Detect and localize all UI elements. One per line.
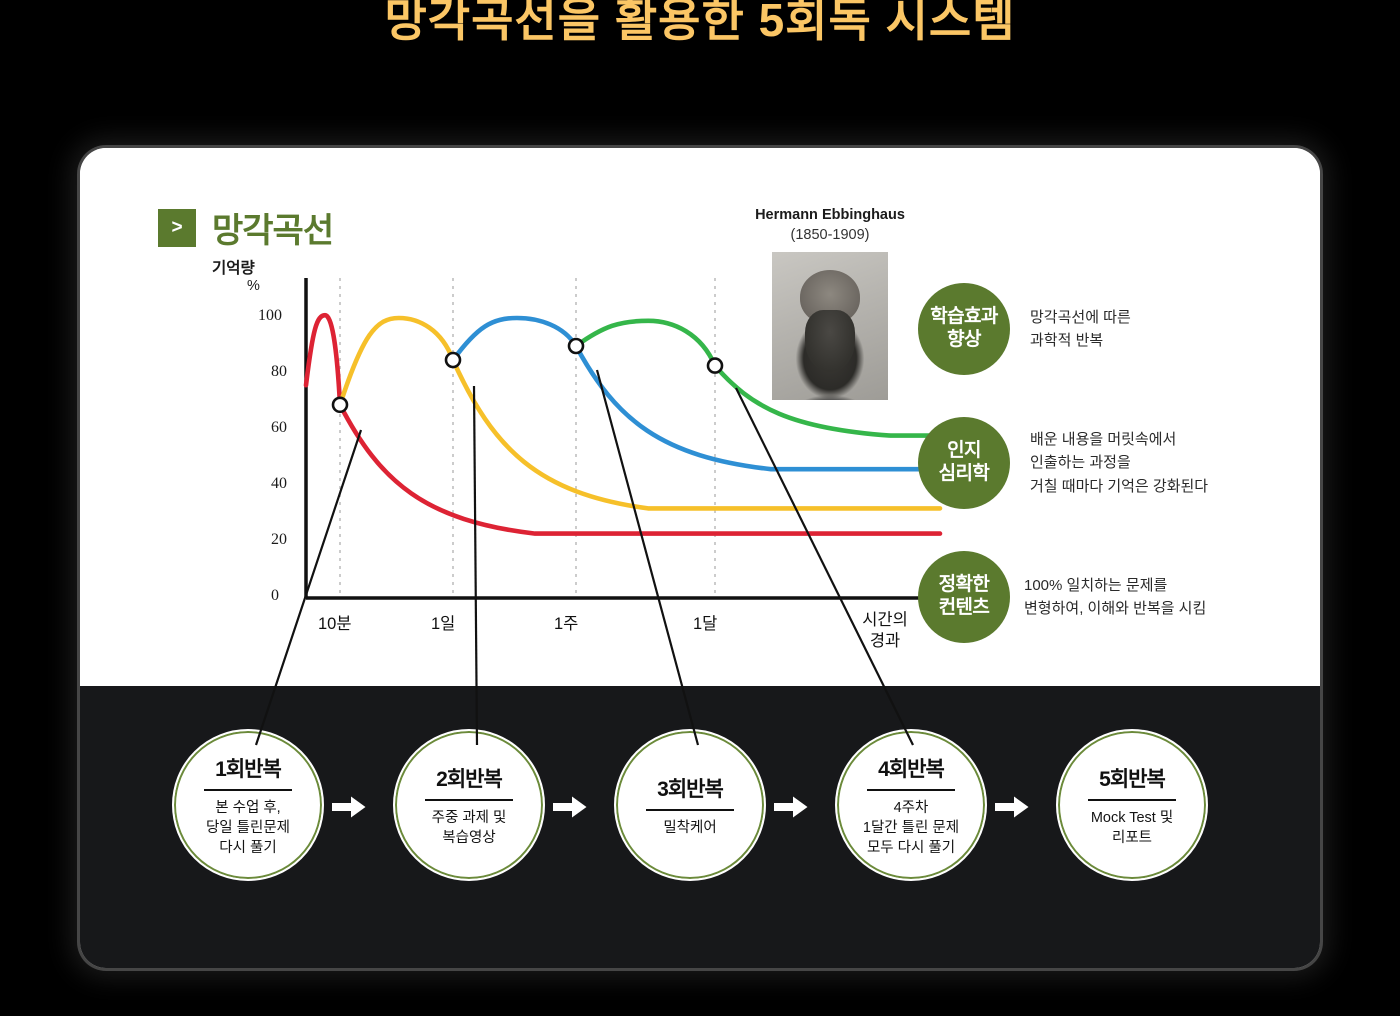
page-title: 망각곡선 xyxy=(212,203,333,252)
step-title-2: 2회반복 xyxy=(436,763,502,793)
feature-badge-line-2: 컨텐츠 xyxy=(939,597,990,620)
feature-description-line-1: 100% 일치하는 문제를 xyxy=(1024,574,1206,597)
step-title-3: 3회반복 xyxy=(657,773,723,803)
y-tick-100: 100 xyxy=(258,307,282,325)
review-marker-3 xyxy=(569,339,583,353)
feature-description-1: 망각곡선에 따른과학적 반복 xyxy=(1030,306,1131,353)
x-axis-title: 시간의경과 xyxy=(840,610,930,651)
repetition-steps: 1회반복본 수업 후,당일 틀린문제다시 풀기2회반복주중 과제 및복습영상3회… xyxy=(80,686,1320,968)
step-divider-3 xyxy=(646,809,734,811)
step-description-line-1: Mock Test 및 xyxy=(1091,808,1173,828)
step-divider-2 xyxy=(425,799,513,801)
step-description-5: Mock Test 및리포트 xyxy=(1091,808,1173,848)
step-circle-4[interactable]: 4회반복4주차1달간 틀린 문제모두 다시 풀기 xyxy=(835,729,987,881)
step-circle-5[interactable]: 5회반복Mock Test 및리포트 xyxy=(1056,729,1208,881)
arrow-right-icon xyxy=(553,796,587,818)
feature-badge-3: 정확한컨텐츠 xyxy=(918,551,1010,643)
feature-description-3: 100% 일치하는 문제를변형하여, 이해와 반복을 시킴 xyxy=(1024,574,1206,621)
step-description-2: 주중 과제 및복습영상 xyxy=(432,808,507,848)
curve-series-1 xyxy=(306,315,940,533)
step-description-4: 4주차1달간 틀린 문제모두 다시 풀기 xyxy=(863,798,959,858)
x-axis-title-line-1: 시간의 xyxy=(840,610,930,631)
step-circle-1[interactable]: 1회반복본 수업 후,당일 틀린문제다시 풀기 xyxy=(172,729,324,881)
step-description-3: 밀착케어 xyxy=(663,818,716,838)
feature-description-line-3: 거칠 때마다 기억은 강화된다 xyxy=(1030,475,1208,498)
step-title-1: 1회반복 xyxy=(215,753,281,783)
step-description-line-1: 주중 과제 및 xyxy=(432,808,507,828)
feature-badge-1: 학습효과향상 xyxy=(918,283,1010,375)
review-marker-2 xyxy=(446,353,460,367)
section-heading: > 망각곡선 xyxy=(158,203,333,252)
step-description-line-2: 리포트 xyxy=(1091,828,1173,848)
step-title-5: 5회반복 xyxy=(1099,763,1165,793)
y-axis-unit: % xyxy=(247,278,260,294)
feature-list: 학습효과향상망각곡선에 따른과학적 반복인지심리학배운 내용을 머릿속에서인출하… xyxy=(918,283,1298,685)
feature-badge-line-1: 학습효과 xyxy=(930,306,998,329)
y-tick-20: 20 xyxy=(271,531,287,549)
arrow-right-icon xyxy=(332,796,366,818)
content-card: > 망각곡선 Hermann Ebbinghaus (1850-1909) 기억… xyxy=(80,148,1320,968)
feature-badge-line-2: 심리학 xyxy=(939,463,990,486)
x-tick-3: 1주 xyxy=(554,610,578,634)
step-divider-5 xyxy=(1088,799,1176,801)
step-description-line-3: 다시 풀기 xyxy=(206,838,290,858)
slide-root: 망각곡선을 활용한 5회독 시스템 > 망각곡선 Hermann Ebbingh… xyxy=(0,0,1400,1016)
feature-badge-2: 인지심리학 xyxy=(918,417,1010,509)
arrow-right-icon xyxy=(774,796,808,818)
review-marker-4 xyxy=(708,359,722,373)
step-description-line-1: 밀착케어 xyxy=(663,818,716,838)
review-marker-1 xyxy=(333,398,347,412)
feature-description-line-2: 인출하는 과정을 xyxy=(1030,451,1208,474)
chevron-right-icon: > xyxy=(158,209,196,247)
step-description-line-1: 본 수업 후, xyxy=(206,798,290,818)
step-title-4: 4회반복 xyxy=(878,753,944,783)
curve-series-2 xyxy=(340,318,940,508)
feature-description-line-1: 망각곡선에 따른 xyxy=(1030,306,1131,329)
feature-item-1: 학습효과향상망각곡선에 따른과학적 반복 xyxy=(918,283,1298,375)
x-tick-4: 1달 xyxy=(693,610,717,634)
step-circle-3[interactable]: 3회반복밀착케어 xyxy=(614,729,766,881)
portrait-years: (1850-1909) xyxy=(730,226,930,246)
step-circle-2[interactable]: 2회반복주중 과제 및복습영상 xyxy=(393,729,545,881)
step-description-line-3: 모두 다시 풀기 xyxy=(863,838,959,858)
feature-description-2: 배운 내용을 머릿속에서인출하는 과정을거칠 때마다 기억은 강화된다 xyxy=(1030,428,1208,498)
banner-title: 망각곡선을 활용한 5회독 시스템 xyxy=(0,0,1400,50)
y-tick-0: 0 xyxy=(271,587,279,605)
y-tick-80: 80 xyxy=(271,363,287,381)
feature-item-3: 정확한컨텐츠100% 일치하는 문제를변형하여, 이해와 반복을 시킴 xyxy=(918,551,1298,643)
banner-title-clip: 망각곡선을 활용한 5회독 시스템 xyxy=(0,0,1400,82)
x-tick-2: 1일 xyxy=(431,610,455,634)
step-description-line-2: 당일 틀린문제 xyxy=(206,818,290,838)
y-axis-title: 기억량 xyxy=(212,256,255,278)
step-description-1: 본 수업 후,당일 틀린문제다시 풀기 xyxy=(206,798,290,858)
step-description-line-2: 1달간 틀린 문제 xyxy=(863,818,959,838)
step-divider-4 xyxy=(867,789,955,791)
feature-description-line-1: 배운 내용을 머릿속에서 xyxy=(1030,428,1208,451)
feature-badge-line-1: 인지 xyxy=(947,440,981,463)
step-divider-1 xyxy=(204,789,292,791)
chart-canvas xyxy=(140,268,960,668)
arrow-right-icon xyxy=(995,796,1029,818)
x-tick-1: 10분 xyxy=(318,610,352,634)
step-description-line-2: 복습영상 xyxy=(432,828,507,848)
forgetting-curve-chart: 기억량 % 020406080100 10분1일1주1달 시간의경과 xyxy=(140,268,960,668)
x-axis-title-line-2: 경과 xyxy=(840,631,930,652)
feature-badge-line-1: 정확한 xyxy=(939,574,990,597)
feature-item-2: 인지심리학배운 내용을 머릿속에서인출하는 과정을거칠 때마다 기억은 강화된다 xyxy=(918,417,1298,509)
step-description-line-1: 4주차 xyxy=(863,798,959,818)
y-tick-60: 60 xyxy=(271,419,287,437)
feature-description-line-2: 변형하여, 이해와 반복을 시킴 xyxy=(1024,597,1206,620)
feature-badge-line-2: 향상 xyxy=(947,329,981,352)
portrait-name: Hermann Ebbinghaus xyxy=(730,206,930,226)
feature-description-line-2: 과학적 반복 xyxy=(1030,329,1131,352)
y-tick-40: 40 xyxy=(271,475,287,493)
